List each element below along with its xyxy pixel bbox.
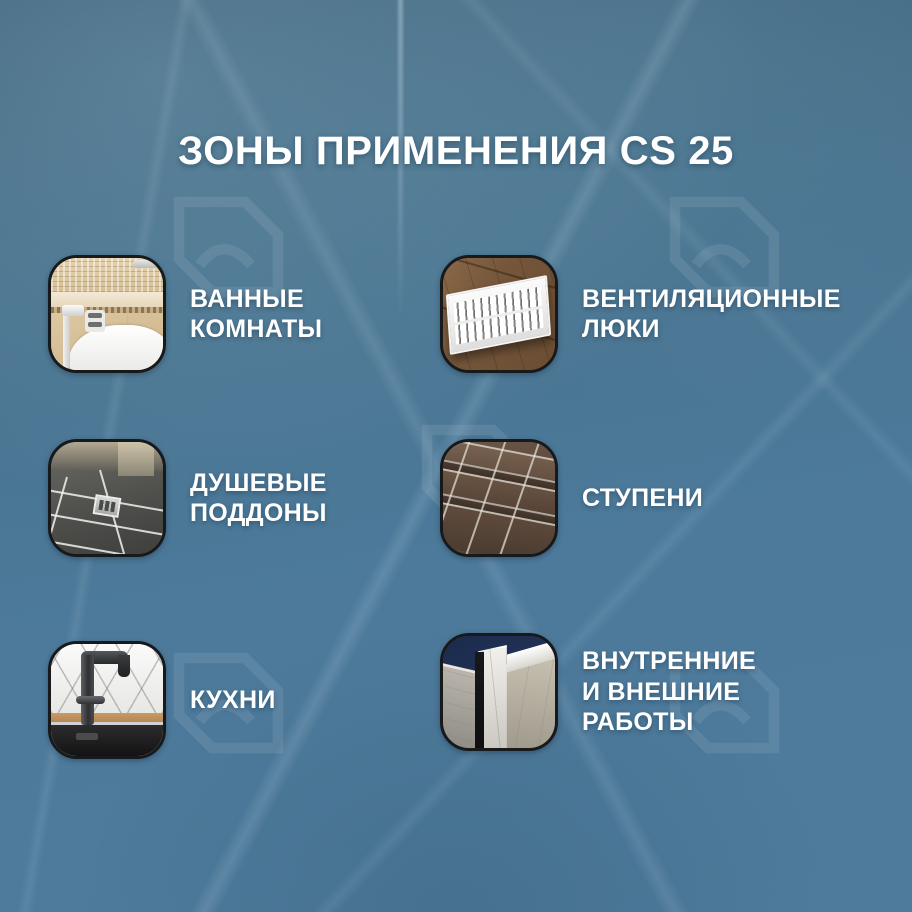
zone-label-bathrooms: ВАННЫЕ КОМНАТЫ bbox=[190, 284, 322, 345]
zone-item-bathrooms[interactable]: ВАННЫЕ КОМНАТЫ bbox=[48, 255, 322, 373]
application-zones-grid: ВАННЫЕ КОМНАТЫ ВЕНТИЛЯЦИОННЫЕ ЛЮКИ bbox=[0, 255, 912, 807]
grid-row: ДУШЕВЫЕ ПОДДОНЫ СТУП bbox=[0, 439, 912, 623]
zone-item-interior-exterior-works[interactable]: ВНУТРЕННИЕ И ВНЕШНИЕ РАБОТЫ bbox=[440, 633, 756, 751]
grid-row: КУХНИ ВНУТРЕННИЕ И ВНЕШНИЕ РАБОТЫ bbox=[0, 623, 912, 807]
zone-label-shower-trays: ДУШЕВЫЕ ПОДДОНЫ bbox=[190, 468, 327, 529]
poster-canvas: ЗОНЫ ПРИМЕНЕНИЯ CS 25 bbox=[0, 0, 912, 912]
zone-item-ventilation-hatches[interactable]: ВЕНТИЛЯЦИОННЫЕ ЛЮКИ bbox=[440, 255, 841, 373]
tiled-steps-photo bbox=[440, 439, 558, 557]
zone-label-steps: СТУПЕНИ bbox=[582, 483, 703, 514]
zone-label-interior-exterior-works: ВНУТРЕННИЕ И ВНЕШНИЕ РАБОТЫ bbox=[582, 646, 756, 738]
page-title: ЗОНЫ ПРИМЕНЕНИЯ CS 25 bbox=[0, 131, 912, 171]
ventilation-grille-photo bbox=[440, 255, 558, 373]
shower-tray-drain-photo bbox=[48, 439, 166, 557]
zone-label-kitchens: КУХНИ bbox=[190, 685, 276, 716]
zone-item-shower-trays[interactable]: ДУШЕВЫЕ ПОДДОНЫ bbox=[48, 439, 327, 557]
building-facade-photo bbox=[440, 633, 558, 751]
zone-item-steps[interactable]: СТУПЕНИ bbox=[440, 439, 703, 557]
grid-row: ВАННЫЕ КОМНАТЫ ВЕНТИЛЯЦИОННЫЕ ЛЮКИ bbox=[0, 255, 912, 439]
zone-item-kitchens[interactable]: КУХНИ bbox=[48, 641, 276, 759]
zone-label-ventilation-hatches: ВЕНТИЛЯЦИОННЫЕ ЛЮКИ bbox=[582, 284, 841, 345]
bathroom-tiles-photo bbox=[48, 255, 166, 373]
kitchen-sink-faucet-photo bbox=[48, 641, 166, 759]
